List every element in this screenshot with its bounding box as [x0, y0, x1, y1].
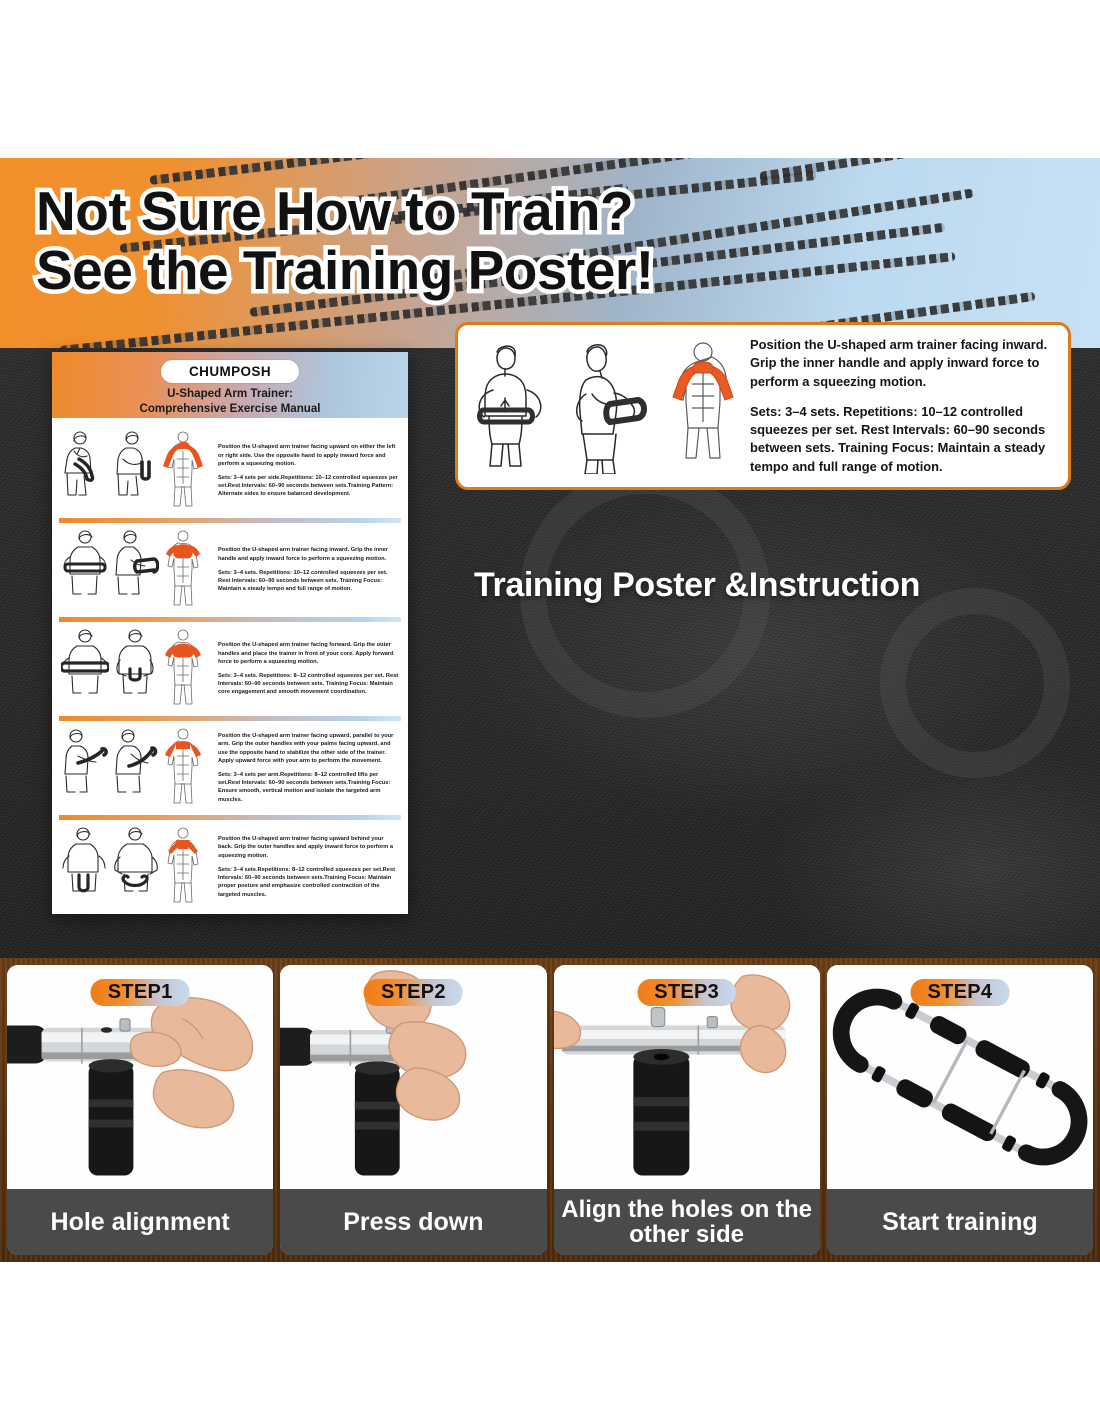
step-caption: Press down — [280, 1189, 546, 1255]
poster-row: Position the U-shaped arm trainer facing… — [59, 820, 401, 914]
row-paragraph-2: Sets: 3–4 sets.Repetitions: 8–12 control… — [218, 866, 399, 899]
step-badge: STEP2 — [364, 979, 463, 1006]
step-caption: Start training — [827, 1189, 1093, 1255]
row-paragraph-1: Position the U-shaped arm trainer facing… — [218, 732, 399, 765]
step-card: STEP4 Start training — [827, 965, 1093, 1255]
poster-row: Position the U-shaped arm trainer facing… — [59, 424, 401, 518]
step-photo: STEP1 — [7, 965, 273, 1189]
muscle-highlight-diagram — [664, 338, 742, 474]
callout-figures — [468, 335, 742, 477]
step-caption: Align the holes on the other side — [554, 1189, 820, 1255]
row-text: Position the U-shaped arm trainer facing… — [218, 641, 399, 696]
step-card: STEP3 Align the holes on the other side — [554, 965, 820, 1255]
assembly-steps: STEP1 Hole alignme — [0, 958, 1100, 1262]
step-photo: STEP2 — [280, 965, 546, 1189]
step-caption: Hole alignment — [7, 1189, 273, 1255]
row-paragraph-1: Position the U-shaped arm trainer facing… — [218, 546, 399, 562]
poster-header: CHUMPOSH U-Shaped Arm Trainer: Comprehen… — [52, 352, 408, 418]
product-infographic: Not Sure How to Train? See the Training … — [0, 0, 1100, 1422]
poster-rows: Position the U-shaped arm trainer facing… — [52, 418, 408, 914]
row-text: Position the U-shaped arm trainer facing… — [218, 546, 399, 593]
poster-row: Position the U-shaped arm trainer facing… — [59, 622, 401, 716]
callout-paragraph-1: Position the U-shaped arm trainer facing… — [750, 336, 1054, 391]
row-figures — [61, 725, 213, 811]
training-poster: CHUMPOSH U-Shaped Arm Trainer: Comprehen… — [52, 352, 408, 914]
row-figures — [61, 428, 213, 514]
row-paragraph-1: Position the U-shaped arm trainer facing… — [218, 443, 399, 468]
callout-text: Position the U-shaped arm trainer facing… — [750, 336, 1054, 476]
row-figures — [61, 527, 213, 613]
section-title: Training Poster &Instruction — [474, 566, 1074, 605]
step-card: STEP1 Hole alignme — [7, 965, 273, 1255]
row-paragraph-2: Sets: 3–4 sets. Repetitions: 10–12 contr… — [218, 569, 399, 594]
dumbbell-ghost-icon — [880, 588, 1070, 778]
row-paragraph-2: Sets: 3–4 sets. Repetitions: 8–12 contro… — [218, 672, 399, 697]
step-photo: STEP3 — [554, 965, 820, 1189]
row-text: Position the U-shaped arm trainer facing… — [218, 835, 399, 898]
row-figures — [61, 626, 213, 712]
row-figures — [61, 824, 213, 910]
exercise-figure-angled — [564, 338, 660, 474]
row-text: Position the U-shaped arm trainer facing… — [218, 443, 399, 498]
row-paragraph-2: Sets: 3–4 sets per side.Repetitions: 10–… — [218, 474, 399, 499]
row-text: Position the U-shaped arm trainer facing… — [218, 732, 399, 804]
step-photo: STEP4 — [827, 965, 1093, 1189]
callout-paragraph-2: Sets: 3–4 sets. Repetitions: 10–12 contr… — [750, 403, 1054, 476]
page-headline: Not Sure How to Train? See the Training … — [36, 182, 866, 300]
brand-logo: CHUMPOSH — [161, 360, 299, 383]
row-paragraph-1: Position the U-shaped arm trainer facing… — [218, 641, 399, 666]
row-paragraph-1: Position the U-shaped arm trainer facing… — [218, 835, 399, 860]
instruction-callout: Position the U-shaped arm trainer facing… — [455, 322, 1071, 490]
poster-row: Position the U-shaped arm trainer facing… — [59, 523, 401, 617]
step-card: STEP2 Press down — [280, 965, 546, 1255]
row-paragraph-2: Sets: 3–4 sets per arm.Repetitions: 8–12… — [218, 771, 399, 804]
poster-row: Position the U-shaped arm trainer facing… — [59, 721, 401, 815]
poster-subtitle: U-Shaped Arm Trainer: Comprehensive Exer… — [52, 387, 408, 417]
step-badge: STEP4 — [910, 979, 1009, 1006]
exercise-figure-front — [468, 338, 560, 474]
step-badge: STEP3 — [637, 979, 736, 1006]
step-badge: STEP1 — [91, 979, 190, 1006]
